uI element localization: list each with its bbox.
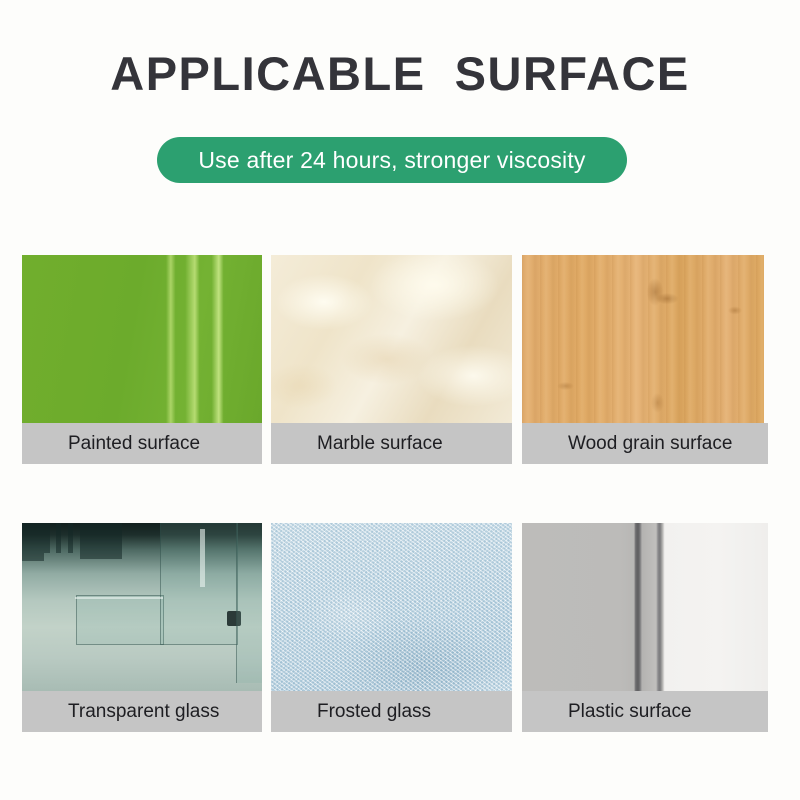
surface-card-plastic[interactable]: Plastic surface xyxy=(522,523,768,732)
surface-card-transparent-glass[interactable]: Transparent glass xyxy=(22,523,262,732)
marble-surface-label: Marble surface xyxy=(271,433,443,455)
surface-card-marble[interactable]: Marble surface xyxy=(271,255,512,464)
transparent-glass-image xyxy=(22,523,262,691)
painted-surface-image xyxy=(22,255,262,423)
frosted-glass-label: Frosted glass xyxy=(271,701,431,723)
surface-card-label: Marble surface xyxy=(271,423,512,464)
surface-card-label: Frosted glass xyxy=(271,691,512,732)
surface-card-label: Wood grain surface xyxy=(522,423,768,464)
plastic-surface-label: Plastic surface xyxy=(522,701,692,723)
surface-card-label: Transparent glass xyxy=(22,691,262,732)
surface-grid: Painted surface Marble surface Wood grai… xyxy=(0,0,800,800)
surface-card-label: Painted surface xyxy=(22,423,262,464)
surface-card-label: Plastic surface xyxy=(522,691,768,732)
plastic-surface-image xyxy=(522,523,768,691)
surface-card-frosted-glass[interactable]: Frosted glass xyxy=(271,523,512,732)
surface-card-painted[interactable]: Painted surface xyxy=(22,255,262,464)
wood-grain-surface-image xyxy=(522,255,764,423)
painted-surface-label: Painted surface xyxy=(22,433,200,455)
surface-card-wood-grain[interactable]: Wood grain surface xyxy=(522,255,768,464)
wood-grain-surface-label: Wood grain surface xyxy=(522,433,732,455)
transparent-glass-label: Transparent glass xyxy=(22,701,219,723)
marble-surface-image xyxy=(271,255,512,423)
frosted-glass-image xyxy=(271,523,512,691)
